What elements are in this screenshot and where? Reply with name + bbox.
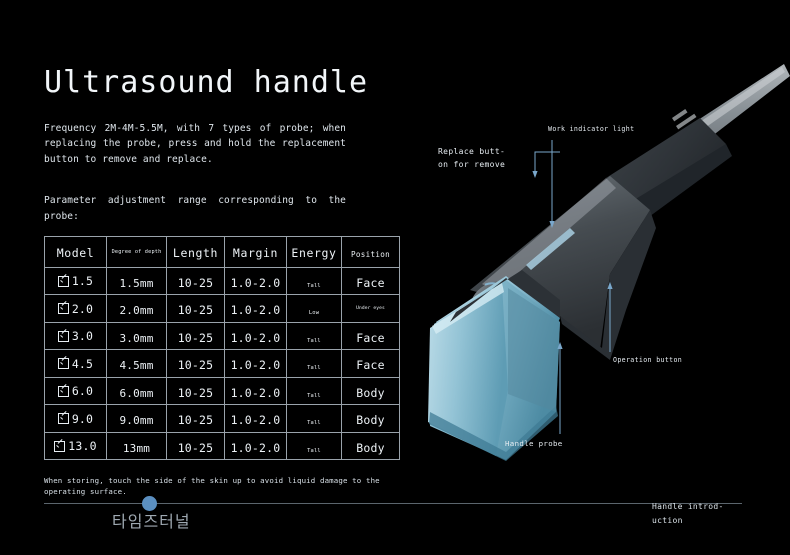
cell-energy: Tall	[287, 350, 342, 378]
cell-position-value: Face	[356, 276, 385, 290]
cell-length: 10-25	[167, 322, 225, 350]
cell-position: Face	[342, 322, 400, 350]
footer-brand-korean: 타임즈터널	[112, 508, 191, 532]
model-check-icon	[58, 386, 69, 397]
cell-depth: 1.5mm	[107, 267, 167, 295]
cell-depth-value: 1.5mm	[119, 277, 153, 290]
intro-paragraph: Frequency 2M-4M-5.5M, with 7 types of pr…	[44, 121, 346, 167]
table-row: 3.03.0mm10-251.0-2.0TallFace	[45, 322, 400, 350]
column-header-energy-label: Energy	[291, 246, 336, 260]
table-row: 4.54.5mm10-251.0-2.0TallFace	[45, 350, 400, 378]
model-check-icon	[54, 441, 65, 452]
cell-length-value: 10-25	[178, 358, 214, 372]
column-header-length-label: Length	[173, 246, 218, 260]
cell-energy-value: Tall	[307, 448, 321, 454]
cell-position: Under eyes	[342, 295, 400, 323]
column-header-length: Length	[167, 236, 225, 267]
callout-replace-button: Replace butt- on for remove	[438, 145, 534, 171]
column-header-depth-label: Degree of depth	[107, 249, 166, 256]
storage-note: When storing, touch the side of the skin…	[44, 475, 416, 497]
cell-margin-value: 1.0-2.0	[231, 303, 281, 317]
cell-model-value: 6.0	[72, 384, 93, 398]
cell-energy: Tall	[287, 267, 342, 295]
cell-model-value: 2.0	[72, 302, 93, 316]
cell-length: 10-25	[167, 377, 225, 405]
table-row: 13.013mm10-251.0-2.0TallBody	[45, 432, 400, 460]
cell-margin-value: 1.0-2.0	[231, 441, 281, 455]
cell-length: 10-25	[167, 350, 225, 378]
cell-margin: 1.0-2.0	[225, 432, 287, 460]
cell-depth-value: 6.0mm	[119, 387, 153, 400]
cell-position-value: Body	[356, 413, 385, 427]
cell-model: 6.0	[45, 377, 107, 405]
cell-energy-value: Low	[309, 310, 319, 316]
cell-length: 10-25	[167, 405, 225, 433]
cell-position-value: Face	[356, 331, 385, 345]
callout-operation-button: Operation button	[613, 355, 723, 366]
model-check-icon	[58, 358, 69, 369]
cell-model: 1.5	[45, 267, 107, 295]
footer-section-label: Handle introd- uction	[652, 500, 762, 527]
cell-model-value: 9.0	[72, 412, 93, 426]
model-check-icon	[58, 413, 69, 424]
cell-depth-value: 13mm	[123, 442, 150, 455]
cell-model: 13.0	[45, 432, 107, 460]
probe-parameter-table: Model Degree of depth Length Margin Ener…	[44, 236, 400, 461]
cell-model: 2.0	[45, 295, 107, 323]
column-header-margin-label: Margin	[233, 246, 278, 260]
parameter-caption: Parameter adjustment range corresponding…	[44, 193, 346, 224]
cell-energy-value: Tall	[307, 393, 321, 399]
cell-margin-value: 1.0-2.0	[231, 386, 281, 400]
table-row: 9.09.0mm10-251.0-2.0TallBody	[45, 405, 400, 433]
table-row: 2.02.0mm10-251.0-2.0LowUnder eyes	[45, 295, 400, 323]
cell-length: 10-25	[167, 267, 225, 295]
cell-model: 3.0	[45, 322, 107, 350]
cell-energy: Tall	[287, 405, 342, 433]
model-check-icon	[58, 276, 69, 287]
device-illustration	[410, 60, 790, 470]
table-row: 6.06.0mm10-251.0-2.0TallBody	[45, 377, 400, 405]
cell-depth: 2.0mm	[107, 295, 167, 323]
cell-length: 10-25	[167, 295, 225, 323]
left-content-column: Ultrasound handle Frequency 2M-4M-5.5M, …	[44, 66, 414, 498]
cell-depth: 3.0mm	[107, 322, 167, 350]
column-header-depth: Degree of depth	[107, 236, 167, 267]
cell-model: 4.5	[45, 350, 107, 378]
cell-position: Body	[342, 432, 400, 460]
cell-model-value: 13.0	[68, 439, 97, 453]
cell-margin: 1.0-2.0	[225, 377, 287, 405]
cell-length-value: 10-25	[178, 331, 214, 345]
cell-position: Face	[342, 267, 400, 295]
column-header-energy: Energy	[287, 236, 342, 267]
cell-energy-value: Tall	[307, 420, 321, 426]
cell-depth-value: 9.0mm	[119, 414, 153, 427]
cell-margin: 1.0-2.0	[225, 350, 287, 378]
cell-position-value: Body	[356, 386, 385, 400]
cell-position: Body	[342, 405, 400, 433]
cell-energy: Tall	[287, 322, 342, 350]
cell-depth: 13mm	[107, 432, 167, 460]
cell-margin: 1.0-2.0	[225, 295, 287, 323]
cell-depth-value: 4.5mm	[119, 359, 153, 372]
table-row: 1.51.5mm10-251.0-2.0TallFace	[45, 267, 400, 295]
cell-depth: 9.0mm	[107, 405, 167, 433]
cell-depth: 6.0mm	[107, 377, 167, 405]
cell-position-value: Under eyes	[342, 306, 399, 312]
cell-margin-value: 1.0-2.0	[231, 331, 281, 345]
table-header-row: Model Degree of depth Length Margin Ener…	[45, 236, 400, 267]
cell-margin-value: 1.0-2.0	[231, 413, 281, 427]
column-header-position-label: Position	[351, 250, 390, 259]
column-header-model: Model	[45, 236, 107, 267]
cell-position-value: Body	[356, 441, 385, 455]
cell-energy: Tall	[287, 432, 342, 460]
model-check-icon	[58, 331, 69, 342]
cell-depth-value: 3.0mm	[119, 332, 153, 345]
column-header-model-label: Model	[57, 246, 95, 260]
page-title: Ultrasound handle	[44, 66, 414, 99]
cell-margin: 1.0-2.0	[225, 322, 287, 350]
slide-root: Ultrasound handle Frequency 2M-4M-5.5M, …	[0, 0, 790, 555]
cell-length-value: 10-25	[178, 303, 214, 317]
cell-margin-value: 1.0-2.0	[231, 276, 281, 290]
cell-depth: 4.5mm	[107, 350, 167, 378]
cell-energy: Low	[287, 295, 342, 323]
cell-length: 10-25	[167, 432, 225, 460]
cell-model: 9.0	[45, 405, 107, 433]
callout-handle-probe: Handle probe	[505, 438, 615, 450]
cell-margin: 1.0-2.0	[225, 267, 287, 295]
cell-energy-value: Tall	[307, 365, 321, 371]
cell-margin: 1.0-2.0	[225, 405, 287, 433]
cell-model-value: 3.0	[72, 329, 93, 343]
column-header-position: Position	[342, 236, 400, 267]
cell-position: Face	[342, 350, 400, 378]
table-body: 1.51.5mm10-251.0-2.0TallFace2.02.0mm10-2…	[45, 267, 400, 460]
model-check-icon	[58, 303, 69, 314]
cell-length-value: 10-25	[178, 441, 214, 455]
cell-energy: Tall	[287, 377, 342, 405]
cell-model-value: 4.5	[72, 357, 93, 371]
cell-position-value: Face	[356, 358, 385, 372]
cell-model-value: 1.5	[72, 274, 93, 288]
callout-indicator-light: Work indicator light	[548, 124, 668, 135]
cell-margin-value: 1.0-2.0	[231, 358, 281, 372]
cell-position: Body	[342, 377, 400, 405]
column-header-margin: Margin	[225, 236, 287, 267]
cell-depth-value: 2.0mm	[119, 304, 153, 317]
cell-energy-value: Tall	[307, 338, 321, 344]
cell-energy-value: Tall	[307, 283, 321, 289]
cell-length-value: 10-25	[178, 276, 214, 290]
cell-length-value: 10-25	[178, 413, 214, 427]
cell-length-value: 10-25	[178, 386, 214, 400]
